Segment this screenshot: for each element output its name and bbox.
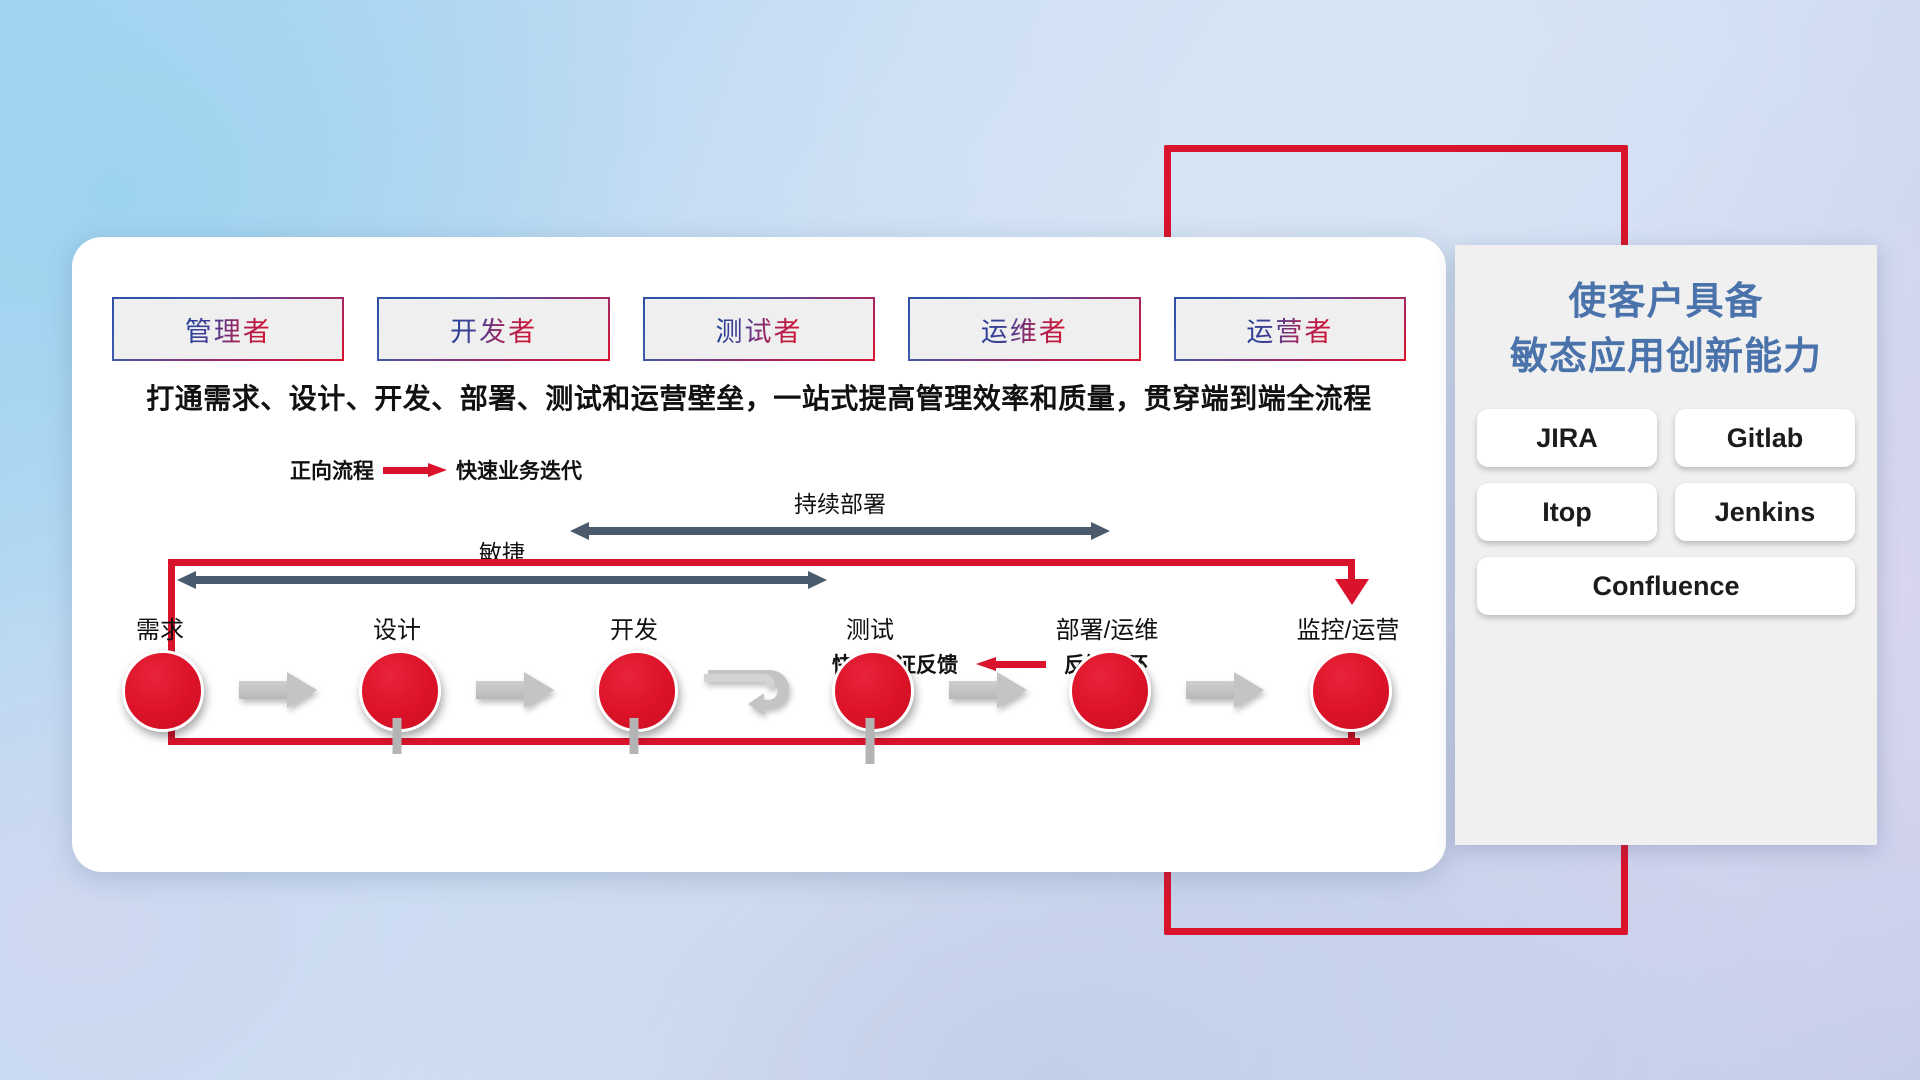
double-arrow-icon — [177, 571, 827, 589]
value-proposition-panel: 使客户具备 敏态应用创新能力 JIRA Gitlab Itop Jenkins … — [1455, 245, 1877, 845]
panel-title: 使客户具备 敏态应用创新能力 — [1455, 275, 1877, 385]
role-label: 运营者 — [1246, 310, 1333, 349]
panel-title-line2: 敏态应用创新能力 — [1455, 330, 1877, 385]
role-label: 测试者 — [716, 310, 803, 349]
devops-flow-card: 管理者 开发者 测试者 运维者 运营者 打通需求、设计、开发、部署、测试和运营壁… — [72, 237, 1446, 872]
red-arrow-right-icon — [383, 463, 447, 477]
tool-chip-jira[interactable]: JIRA — [1477, 409, 1657, 467]
gray-arrow-icon — [949, 672, 1027, 708]
stage-label-monitor-operate: 监控/运营 — [1297, 610, 1400, 645]
iteration-loop-icon — [702, 668, 798, 720]
forward-flow-legend: 正向流程 快速业务迭代 — [290, 455, 582, 485]
role-box-ops[interactable]: 运维者 — [908, 297, 1140, 361]
stage-label-deploy-ops: 部署/运维 — [1056, 610, 1159, 645]
role-box-tester[interactable]: 测试者 — [643, 297, 875, 361]
gray-arrow-icon — [476, 672, 554, 708]
gray-arrow-icon — [1186, 672, 1264, 708]
stage-label-develop: 开发 — [610, 610, 658, 645]
test-feedback-stem — [866, 718, 875, 764]
pipeline-flow: 需求 设计 开发 测试 部署/运维 — [100, 610, 1430, 740]
tool-chip-itop[interactable]: Itop — [1477, 483, 1657, 541]
roles-row: 管理者 开发者 测试者 运维者 运营者 — [112, 297, 1406, 361]
tool-chip-confluence[interactable]: Confluence — [1477, 557, 1855, 615]
loop-arrowhead-down-icon — [1335, 579, 1369, 605]
role-box-manager[interactable]: 管理者 — [112, 297, 344, 361]
headline-text: 打通需求、设计、开发、部署、测试和运营壁垒，一站式提高管理效率和质量，贯穿端到端… — [72, 377, 1446, 417]
continuous-deployment-label: 持续部署 — [570, 485, 1110, 519]
fast-iteration-label: 快速业务迭代 — [456, 455, 582, 485]
stage-label-design: 设计 — [373, 610, 421, 645]
stage-node-monitor-operate[interactable] — [1310, 650, 1392, 732]
tool-chip-jenkins[interactable]: Jenkins — [1675, 483, 1855, 541]
role-label: 管理者 — [185, 310, 272, 349]
slide-canvas: 管理者 开发者 测试者 运维者 运营者 打通需求、设计、开发、部署、测试和运营壁… — [0, 0, 1920, 1080]
stage-label-test: 测试 — [846, 610, 894, 645]
loop-top-segment — [168, 559, 1348, 566]
stage-label-demand: 需求 — [136, 610, 184, 645]
continuous-deployment-span: 持续部署 — [570, 485, 1110, 540]
develop-feedback-stem — [630, 718, 639, 754]
stage-node-deploy-ops[interactable] — [1069, 650, 1151, 732]
role-box-developer[interactable]: 开发者 — [377, 297, 609, 361]
gray-arrow-icon — [239, 672, 317, 708]
design-feedback-stem — [393, 718, 402, 754]
role-label: 运维者 — [981, 310, 1068, 349]
panel-title-line1: 使客户具备 — [1455, 275, 1877, 330]
role-label: 开发者 — [450, 310, 537, 349]
forward-flow-label: 正向流程 — [290, 455, 374, 485]
role-box-operations[interactable]: 运营者 — [1174, 297, 1406, 361]
tool-chip-gitlab[interactable]: Gitlab — [1675, 409, 1855, 467]
tool-chip-list: JIRA Gitlab Itop Jenkins Confluence — [1455, 409, 1877, 615]
stage-node-demand[interactable] — [122, 650, 204, 732]
